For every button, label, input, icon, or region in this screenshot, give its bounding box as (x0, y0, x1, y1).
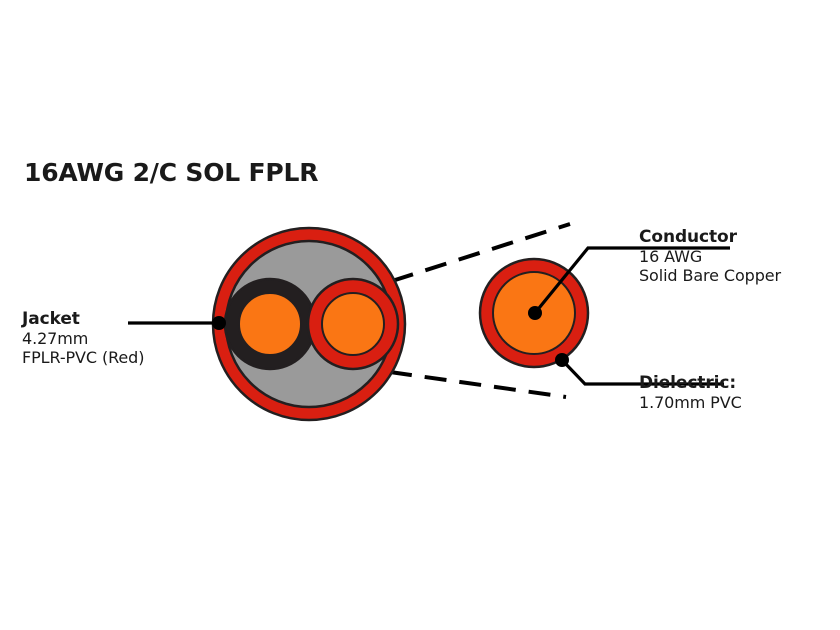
callout-dielectric: Dielectric: 1.70mm PVC (639, 374, 742, 413)
copper-core-left (239, 293, 301, 355)
callout-dielectric-heading: Dielectric: (639, 374, 742, 394)
callout-conductor-heading: Conductor (639, 228, 781, 248)
black-insulated-conductor (225, 279, 315, 369)
callout-jacket: Jacket 4.27mm FPLR-PVC (Red) (22, 310, 144, 367)
callout-dielectric-line1: 1.70mm PVC (639, 394, 742, 413)
conductor-leader-dot (528, 306, 542, 320)
jacket-leader-dot (212, 316, 226, 330)
callout-conductor-line2: Solid Bare Copper (639, 267, 781, 286)
callout-conductor: Conductor 16 AWG Solid Bare Copper (639, 228, 781, 285)
expansion-line-bottom (390, 372, 566, 397)
diagram-title: 16AWG 2/C SOL FPLR (24, 158, 318, 187)
copper-core-right (322, 293, 384, 355)
cable-cross-section (213, 228, 405, 420)
red-insulated-conductor (308, 279, 398, 369)
callout-jacket-line2: FPLR-PVC (Red) (22, 349, 144, 368)
dielectric-leader-dot (555, 353, 569, 367)
callout-conductor-line1: 16 AWG (639, 248, 781, 267)
callout-jacket-heading: Jacket (22, 310, 144, 330)
diagram-canvas: 16AWG 2/C SOL FPLR Jacket 4.27mm FPLR-PV… (0, 0, 840, 630)
callout-jacket-line1: 4.27mm (22, 330, 144, 349)
